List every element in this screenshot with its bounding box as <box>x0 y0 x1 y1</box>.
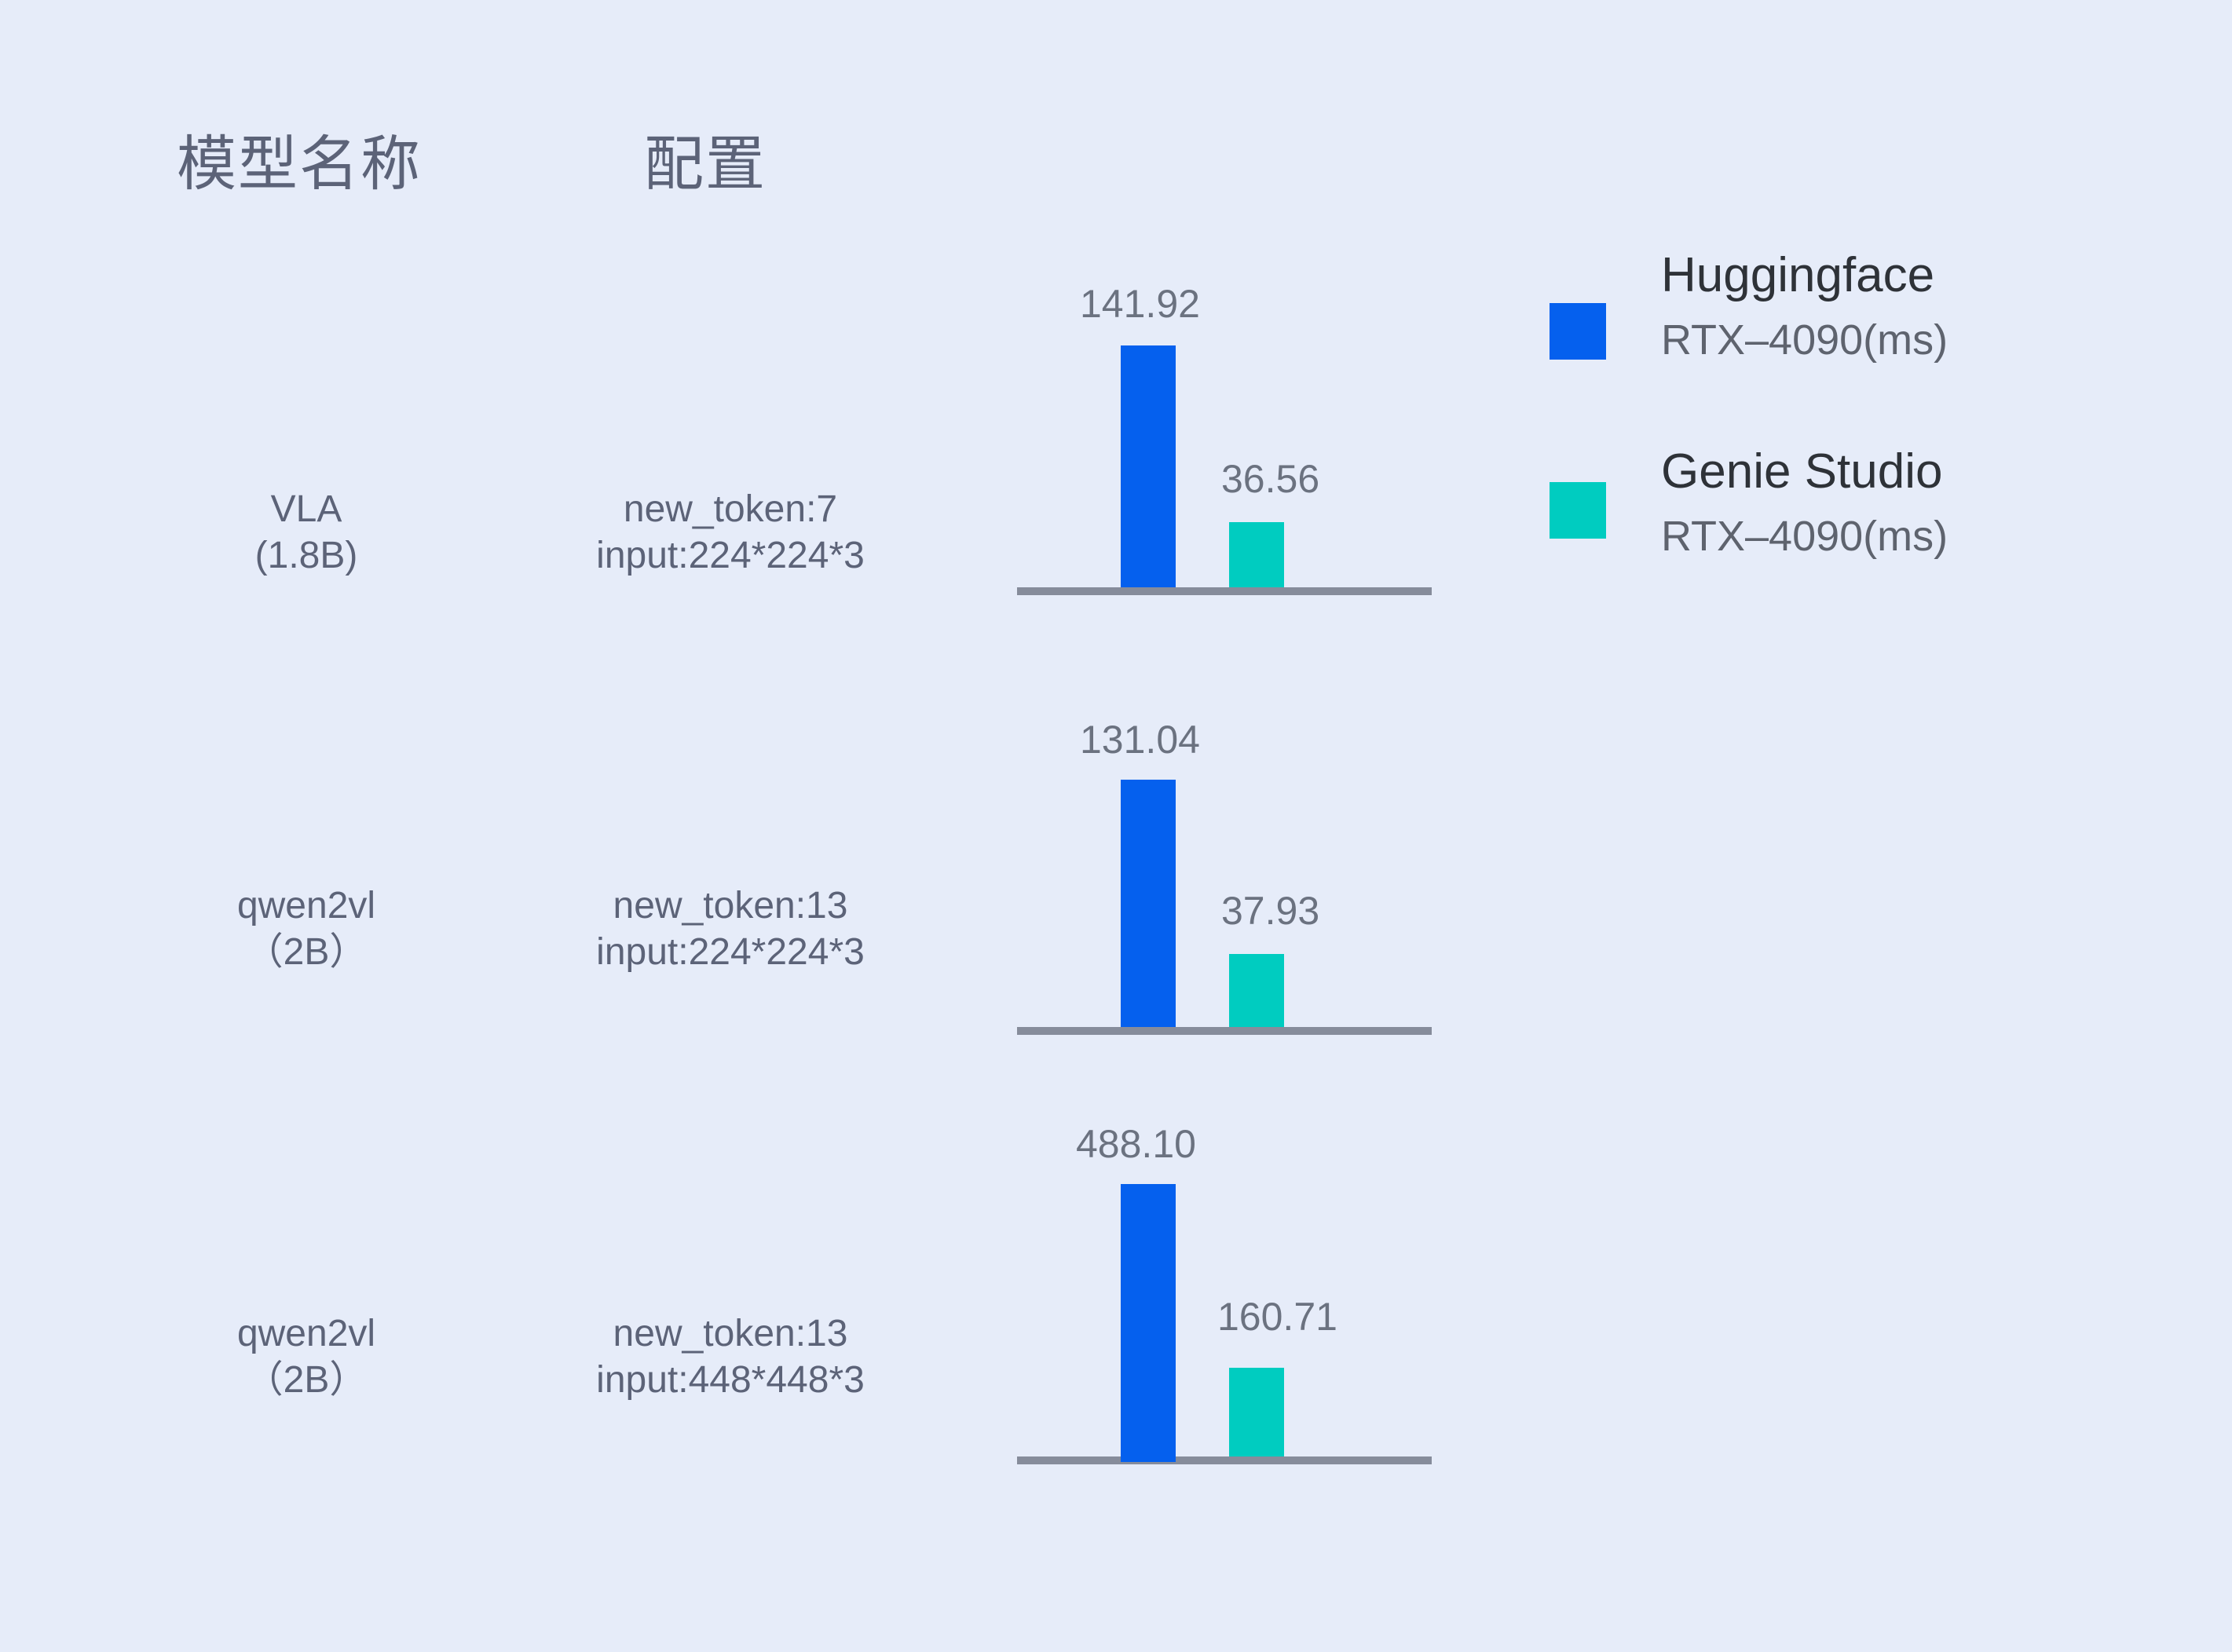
legend-title: Huggingface <box>1661 251 1934 300</box>
bar-plot: 131.04 37.93 <box>1017 675 1433 1044</box>
row-model-label: qwen2vl （2B） <box>141 883 471 975</box>
row-config-label: new_token:13 input:448*448*3 <box>503 1311 958 1403</box>
row-config-tokens: new_token:7 <box>503 487 958 533</box>
bar-plot: 141.92 36.56 <box>1017 236 1433 605</box>
row-model-size: （2B） <box>141 930 471 976</box>
chart-row: qwen2vl （2B） new_token:13 input:224*224*… <box>0 675 2232 1052</box>
row-model-name: VLA <box>141 487 471 533</box>
bar-huggingface <box>1121 1184 1176 1462</box>
row-config-input: input:224*224*3 <box>503 930 958 976</box>
legend-subtitle: RTX–4090(ms) <box>1661 319 1948 361</box>
column-header-model-name: 模型名称 <box>177 135 422 195</box>
row-config-label: new_token:13 input:224*224*3 <box>503 883 958 975</box>
bar-label-huggingface: 131.04 <box>1080 720 1200 759</box>
axis-baseline <box>1017 1027 1432 1035</box>
row-config-input: input:448*448*3 <box>503 1358 958 1404</box>
bar-label-huggingface: 488.10 <box>1076 1124 1196 1164</box>
bar-genie-studio <box>1229 954 1284 1027</box>
bar-genie-studio <box>1229 1368 1284 1456</box>
axis-baseline <box>1017 587 1432 595</box>
bar-label-genie-studio: 160.71 <box>1217 1297 1337 1336</box>
column-header-config: 配置 <box>644 135 767 195</box>
bar-plot: 488.10 160.71 <box>1017 1091 1433 1484</box>
chart-row: qwen2vl （2B） new_token:13 input:448*448*… <box>0 1091 2232 1500</box>
legend-swatch-icon <box>1550 303 1606 360</box>
row-model-label: qwen2vl （2B） <box>141 1311 471 1403</box>
row-model-label: VLA (1.8B) <box>141 487 471 579</box>
bar-huggingface <box>1121 780 1176 1027</box>
bar-genie-studio <box>1229 522 1284 587</box>
row-model-size: （2B） <box>141 1358 471 1404</box>
row-model-name: qwen2vl <box>141 1311 471 1358</box>
row-config-label: new_token:7 input:224*224*3 <box>503 487 958 579</box>
bar-label-genie-studio: 36.56 <box>1221 459 1319 499</box>
axis-baseline <box>1017 1456 1432 1464</box>
row-config-tokens: new_token:13 <box>503 883 958 930</box>
row-config-tokens: new_token:13 <box>503 1311 958 1358</box>
legend-subtitle: RTX–4090(ms) <box>1661 515 1948 557</box>
row-config-input: input:224*224*3 <box>503 533 958 579</box>
bar-huggingface <box>1121 345 1176 587</box>
chart-page: 模型名称 配置 VLA (1.8B) new_token:7 input:224… <box>0 0 2232 1652</box>
bar-label-huggingface: 141.92 <box>1080 284 1200 323</box>
row-model-size: (1.8B) <box>141 533 471 579</box>
row-model-name: qwen2vl <box>141 883 471 930</box>
legend-swatch-icon <box>1550 482 1606 539</box>
bar-label-genie-studio: 37.93 <box>1221 891 1319 930</box>
legend-title: Genie Studio <box>1661 448 1942 496</box>
